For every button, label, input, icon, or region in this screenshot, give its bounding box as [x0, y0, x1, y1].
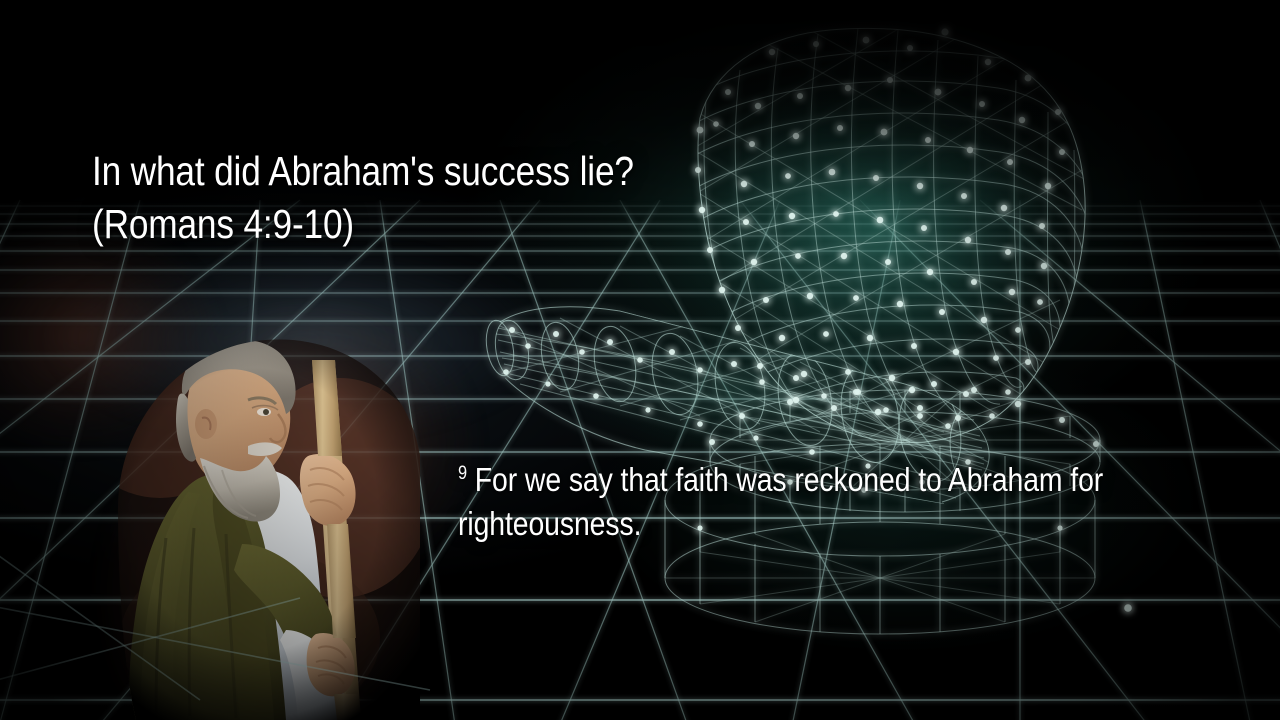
title-line-1: In what did Abraham's success lie? — [92, 145, 746, 198]
title-line-2: (Romans 4:9-10) — [92, 198, 746, 251]
slide-canvas: In what did Abraham's success lie?(Roman… — [0, 0, 1280, 720]
verse-text: For we say that faith was reckoned to Ab… — [458, 461, 1103, 542]
slide-title: In what did Abraham's success lie?(Roman… — [92, 38, 746, 358]
scripture-verse: 9 For we say that faith was reckoned to … — [458, 458, 1215, 546]
